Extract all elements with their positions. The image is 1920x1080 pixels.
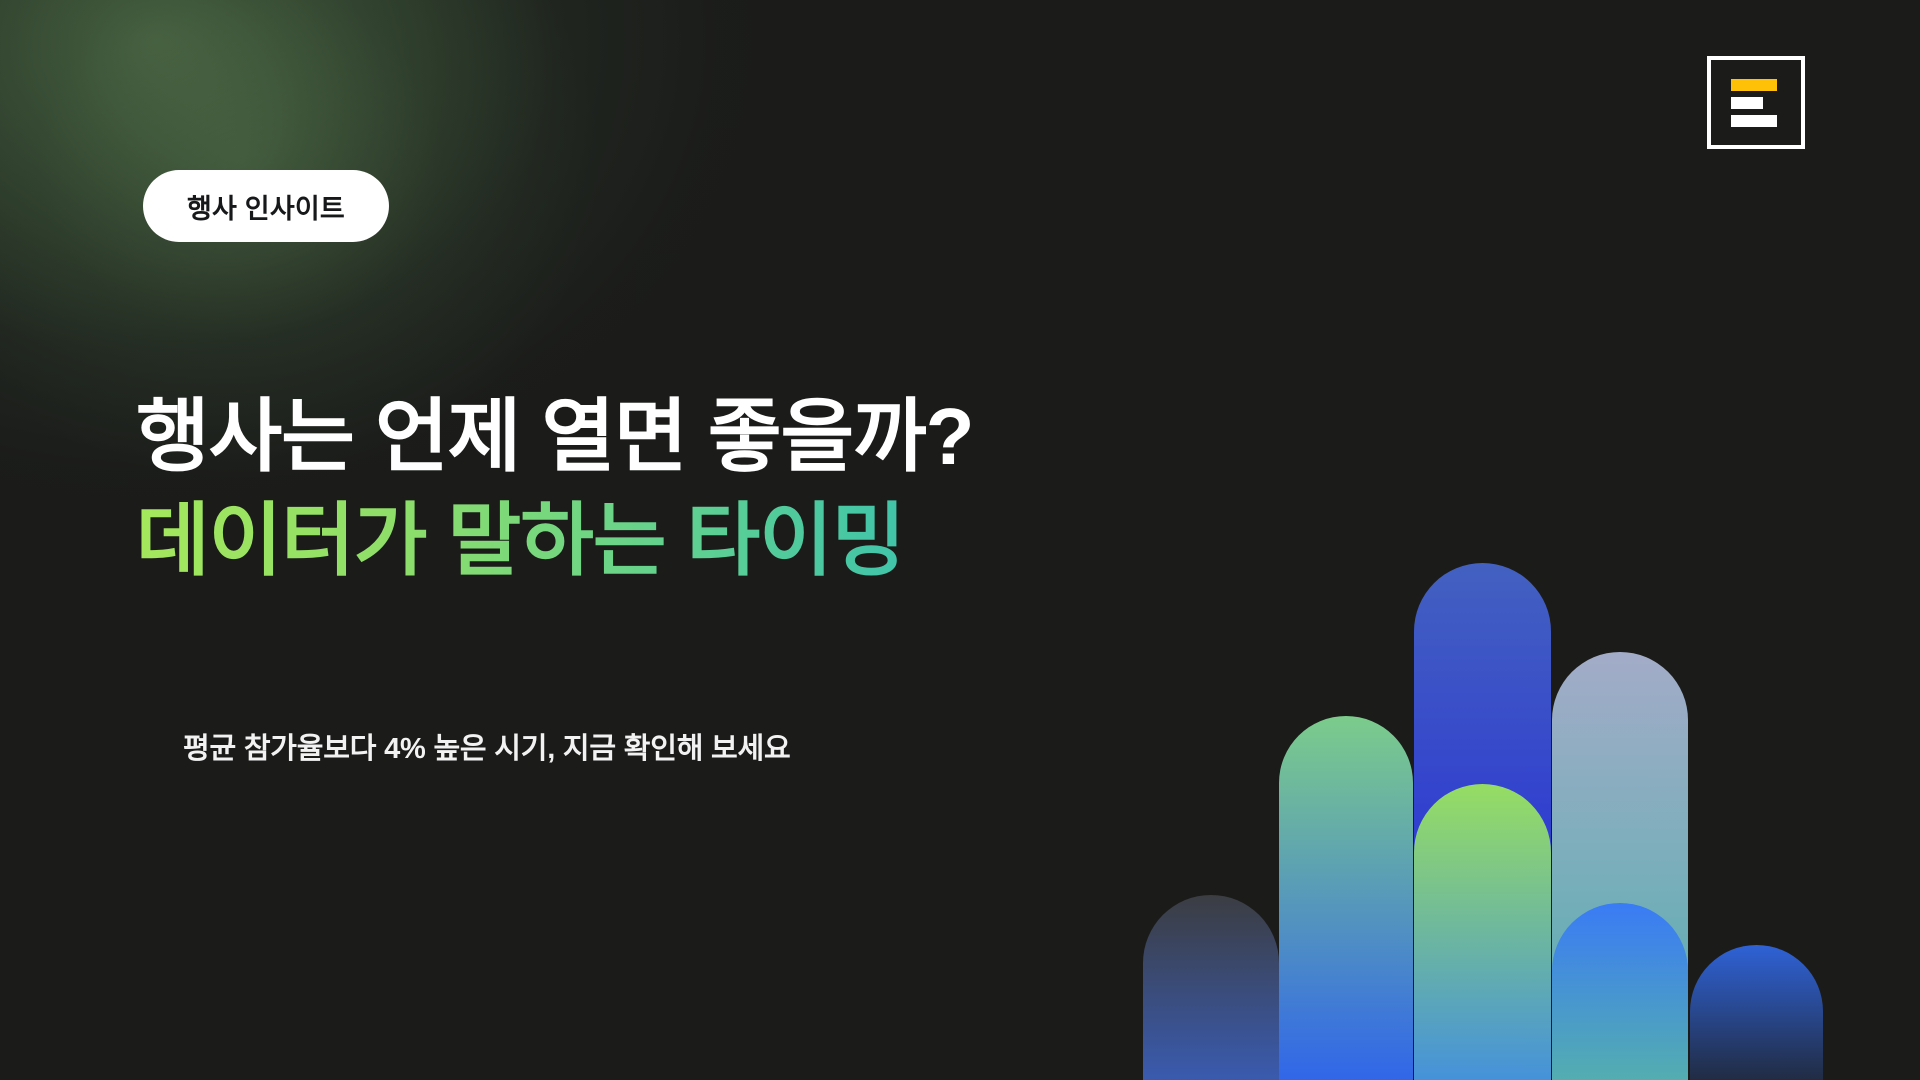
logo-bar-bottom-icon [1731,115,1777,127]
logo-bar-middle-icon [1731,97,1763,109]
chart-bar [1279,716,1413,1080]
headline-line-1: 행사는 언제 열면 좋을까? [136,385,1236,489]
logo-bars [1711,60,1801,145]
chart-bar [1414,563,1551,1080]
subtitle-text: 평균 참가율보다 4% 높은 시기, 지금 확인해 보세요 [183,725,791,767]
headline-block: 행사는 언제 열면 좋을까? 데이터가 말하는 타이밍 [136,385,1236,593]
category-badge[interactable]: 행사 인사이트 [143,170,389,242]
chart-bar [1690,945,1823,1080]
chart-bar [1414,784,1551,1080]
category-badge-label: 행사 인사이트 [187,187,345,226]
chart-bar [1552,903,1688,1080]
chart-bar [1143,895,1279,1080]
brand-logo [1707,56,1805,149]
headline-line-2: 데이터가 말하는 타이밍 [136,489,1236,593]
chart-bar [1552,652,1688,1080]
poster-canvas: 행사 인사이트 행사는 언제 열면 좋을까? 데이터가 말하는 타이밍 평균 참… [0,0,1920,1080]
logo-bar-accent-icon [1731,79,1777,91]
